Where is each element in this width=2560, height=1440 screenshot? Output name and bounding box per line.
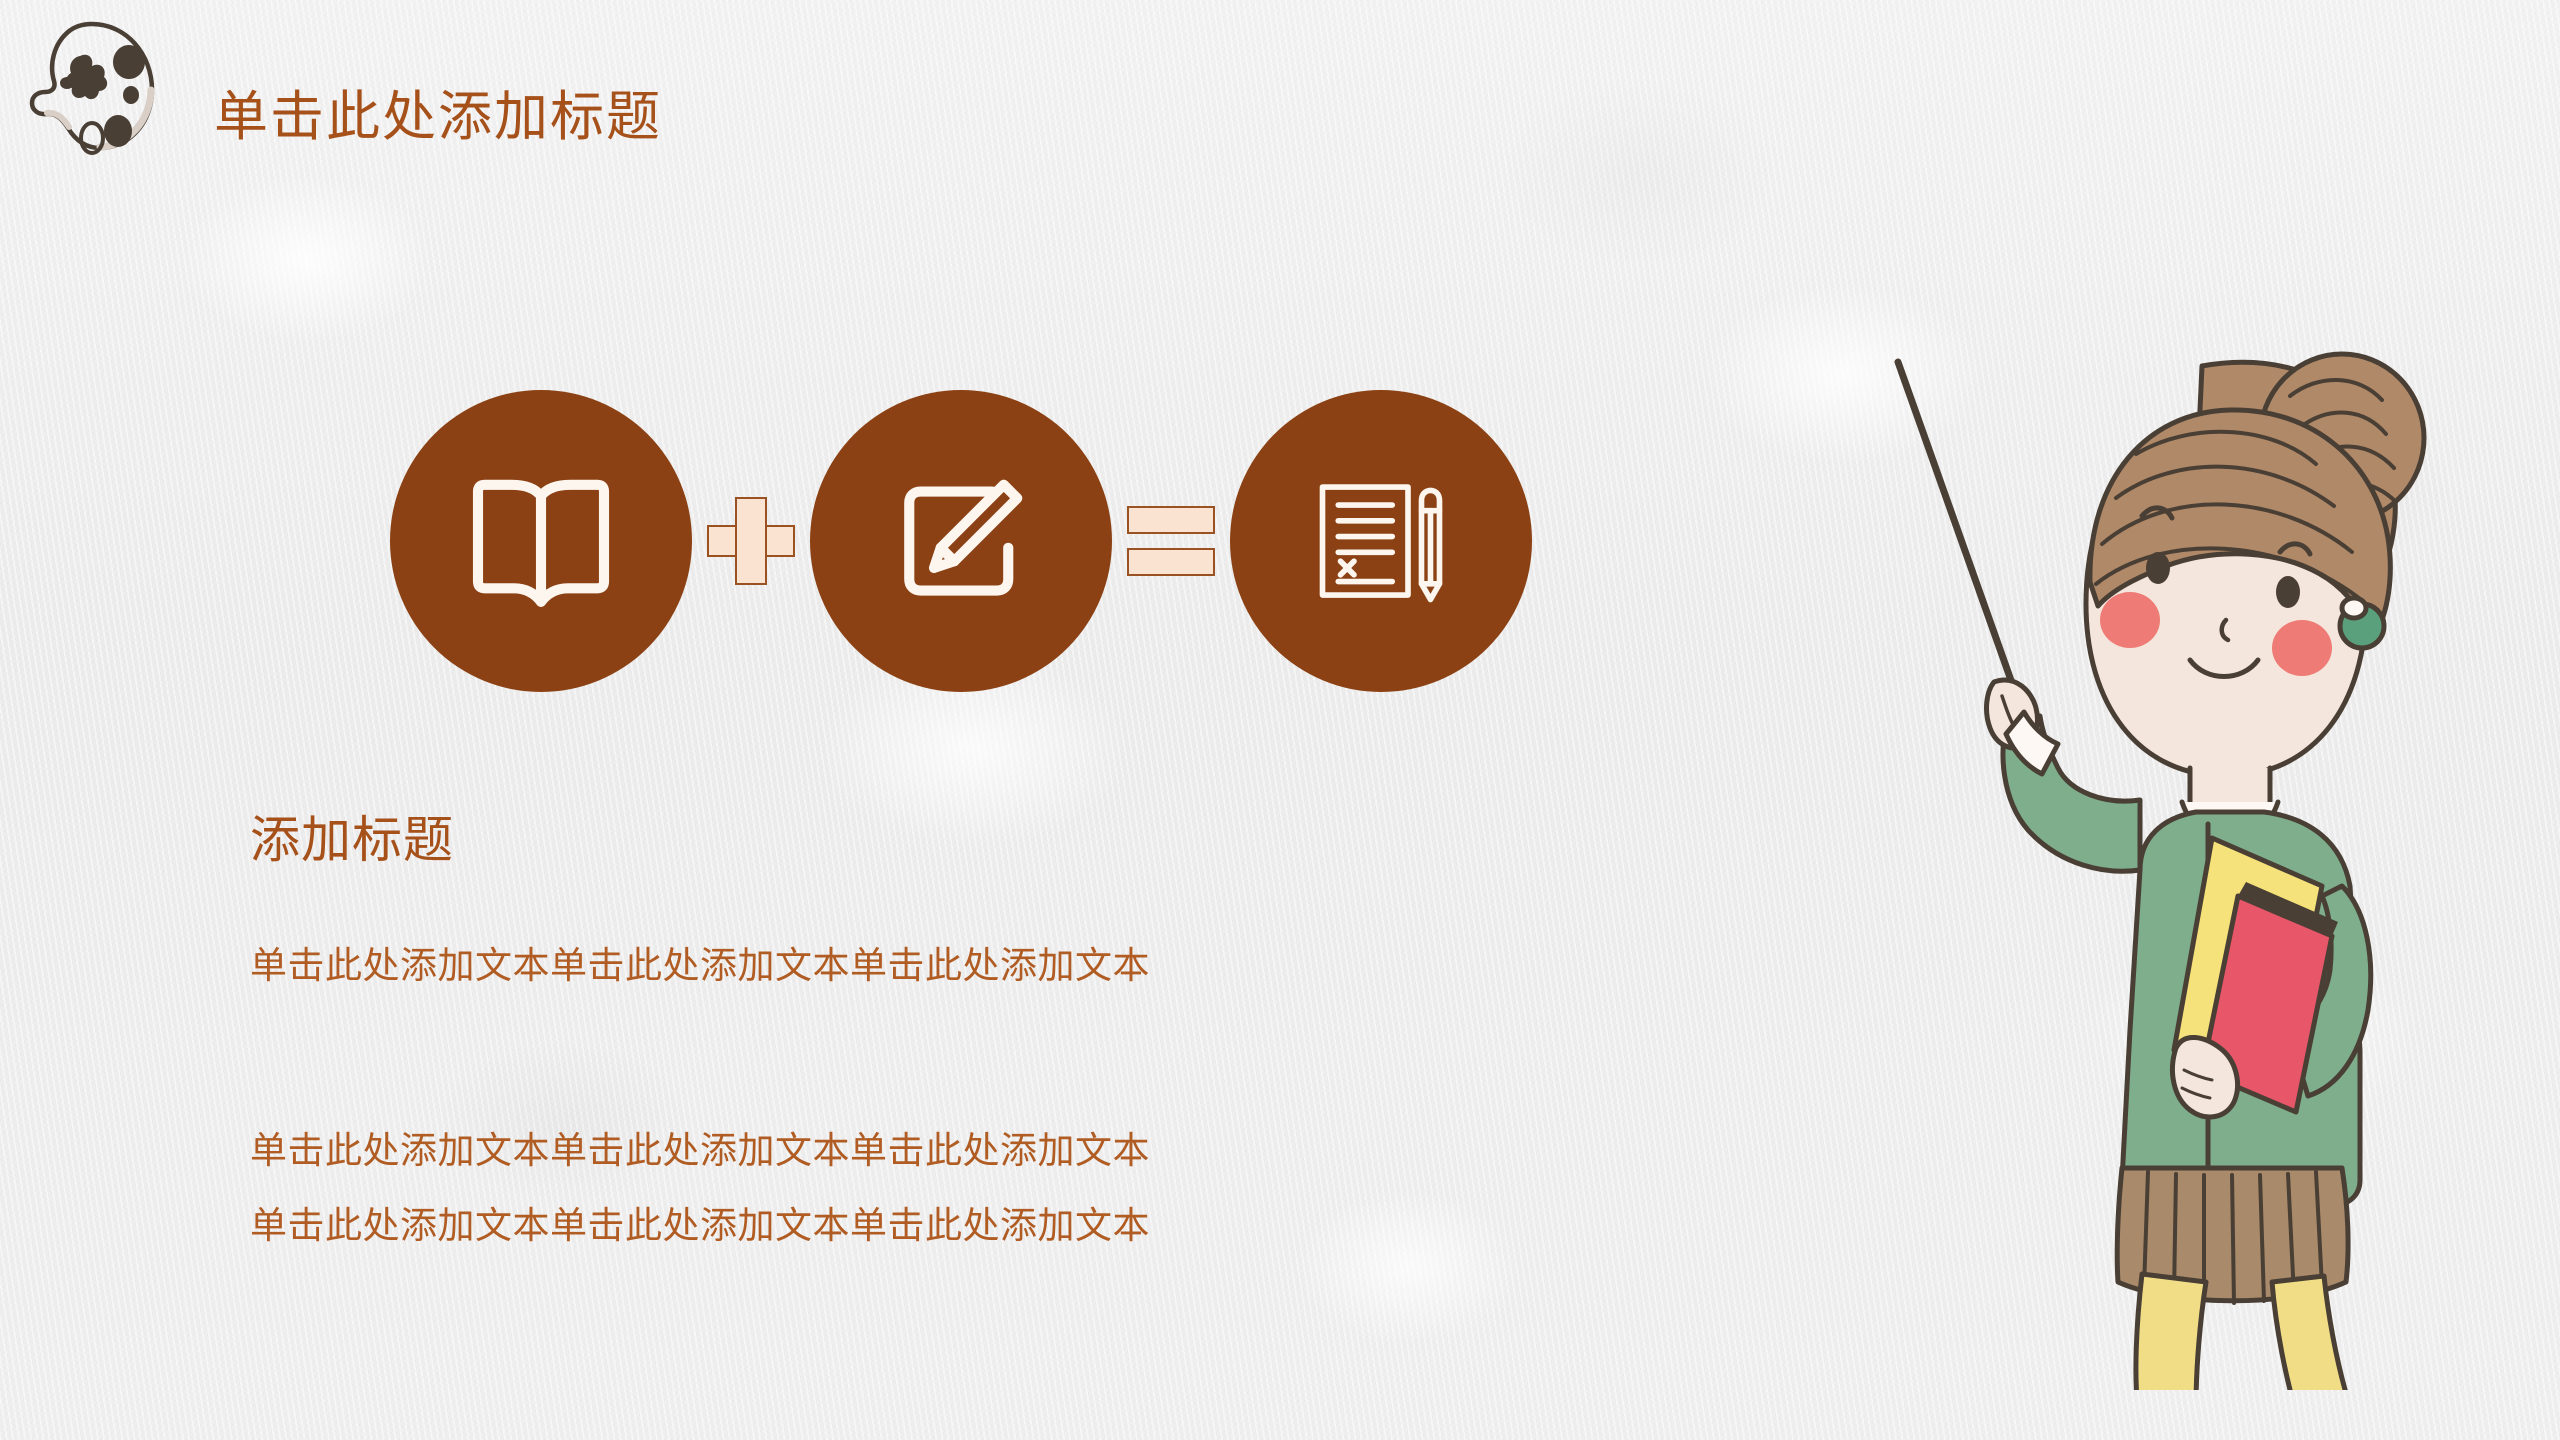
page-title: 单击此处添加标题 [214, 88, 662, 146]
equals-operator [1112, 506, 1230, 576]
equals-sign-icon [1127, 506, 1215, 576]
plus-sign-icon [707, 497, 795, 585]
slide-canvas: 单击此处添加标题 [0, 0, 2560, 1440]
body-paragraph-3: 单击此处添加文本单击此处添加文本单击此处添加文本 [250, 1195, 1150, 1249]
edit-pencil-icon-circle[interactable] [810, 390, 1112, 692]
content-subtitle: 添加标题 [250, 800, 454, 872]
plus-operator [692, 497, 810, 585]
teacher-with-pointer-illustration [1890, 330, 2510, 1390]
edit-pencil-icon [871, 451, 1051, 631]
open-book-icon [451, 451, 631, 631]
open-book-icon-circle[interactable] [390, 390, 692, 692]
body-paragraph-1: 单击此处添加文本单击此处添加文本单击此处添加文本 [250, 935, 1150, 989]
body-paragraph-2: 单击此处添加文本单击此处添加文本单击此处添加文本 [250, 1120, 1150, 1174]
icon-equation-row [390, 390, 1532, 692]
palette-icon [14, 16, 174, 156]
document-pencil-icon-circle[interactable] [1230, 390, 1532, 692]
document-pencil-icon [1291, 451, 1471, 631]
